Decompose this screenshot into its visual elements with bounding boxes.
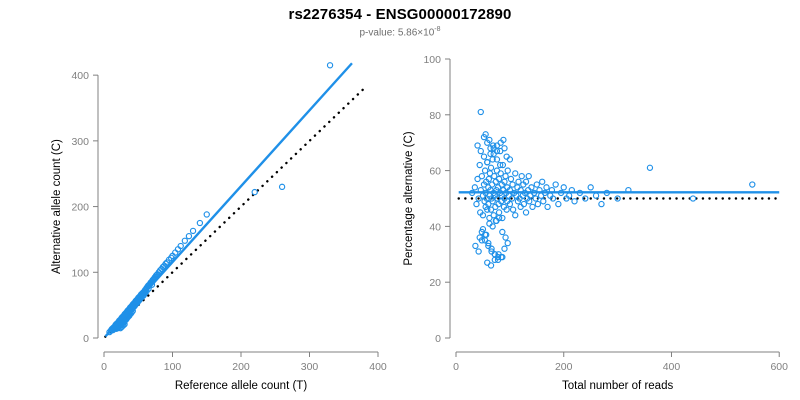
- data-point: [197, 220, 202, 225]
- y-tick-label-left: 300: [71, 136, 89, 148]
- data-point: [535, 201, 540, 206]
- data-point: [508, 176, 513, 181]
- data-point: [498, 171, 503, 176]
- y-tick-label-left: 200: [71, 202, 89, 214]
- y-tick-label-right: 100: [423, 54, 441, 66]
- data-point: [327, 63, 332, 68]
- data-point: [473, 243, 478, 248]
- y-tick-label-left: 0: [83, 333, 89, 345]
- data-point: [477, 162, 482, 167]
- data-point: [510, 182, 515, 187]
- data-point: [690, 196, 695, 201]
- data-point: [472, 185, 477, 190]
- y-tick-label-right: 0: [435, 333, 441, 345]
- data-point: [503, 174, 508, 179]
- y-axis-title-left: Alternative allele count (C): [51, 139, 63, 274]
- x-tick-label-left: 100: [164, 361, 182, 373]
- data-point: [474, 201, 479, 206]
- data-point: [182, 238, 187, 243]
- x-axis-title-right: Total number of reads: [562, 380, 673, 392]
- data-point: [502, 246, 507, 251]
- subtitle-prefix: p-value: 5.86×10: [359, 27, 434, 38]
- data-point: [500, 229, 505, 234]
- y-tick-label-right: 60: [429, 166, 441, 178]
- data-point: [491, 213, 496, 218]
- data-point: [280, 184, 285, 189]
- data-point: [505, 241, 510, 246]
- x-tick-label-left: 200: [232, 361, 250, 373]
- data-point: [526, 174, 531, 179]
- data-point: [750, 182, 755, 187]
- data-point: [478, 109, 483, 114]
- x-tick-label-left: 400: [369, 361, 387, 373]
- y-tick-label-left: 400: [71, 70, 89, 82]
- y-tick-label-right: 40: [429, 221, 441, 233]
- data-point: [492, 174, 497, 179]
- data-point: [541, 199, 546, 204]
- figure-title: rs2276354 - ENSG00000172890: [0, 6, 800, 23]
- data-point: [519, 174, 524, 179]
- data-point: [545, 204, 550, 209]
- data-point: [478, 148, 483, 153]
- data-point: [503, 235, 508, 240]
- data-point: [510, 207, 515, 212]
- x-tick-label-right: 200: [555, 361, 573, 373]
- x-tick-label-right: 600: [770, 361, 788, 373]
- data-point: [186, 234, 191, 239]
- figure-root: rs2276354 - ENSG00000172890 p-value: 5.8…: [0, 0, 800, 400]
- data-point: [476, 249, 481, 254]
- data-point: [647, 165, 652, 170]
- data-point: [190, 228, 195, 233]
- y-tick-label-right: 20: [429, 277, 441, 289]
- y-tick-label-left: 100: [71, 267, 89, 279]
- y-axis-title-right: Percentage alternative (C): [403, 131, 415, 265]
- fit-line-left: [105, 63, 352, 336]
- x-axis-title-left: Reference allele count (T): [175, 380, 307, 392]
- figure-subtitle: p-value: 5.86×10-8: [0, 26, 800, 38]
- data-point: [523, 210, 528, 215]
- subtitle-exponent: -8: [434, 26, 440, 33]
- data-point: [505, 168, 510, 173]
- panel-left: 01002003004000100200300400Reference alle…: [51, 63, 387, 392]
- data-point: [556, 201, 561, 206]
- y-tick-label-right: 80: [429, 110, 441, 122]
- data-point: [593, 193, 598, 198]
- x-tick-label-right: 0: [453, 361, 459, 373]
- data-point: [530, 204, 535, 209]
- data-points-right: [470, 109, 755, 268]
- data-points-left: [107, 63, 333, 335]
- data-point: [482, 168, 487, 173]
- data-point: [488, 151, 493, 156]
- data-point: [481, 154, 486, 159]
- data-point: [497, 210, 502, 215]
- plot-canvas: 01002003004000100200300400Reference alle…: [0, 0, 800, 400]
- data-point: [513, 213, 518, 218]
- data-point: [204, 212, 209, 217]
- data-point: [475, 143, 480, 148]
- data-point: [572, 199, 577, 204]
- x-tick-label-right: 400: [663, 361, 681, 373]
- x-tick-label-left: 0: [101, 361, 107, 373]
- data-point: [540, 179, 545, 184]
- data-point: [534, 182, 539, 187]
- data-point: [588, 185, 593, 190]
- data-point: [485, 160, 490, 165]
- data-point: [479, 174, 484, 179]
- data-point: [488, 165, 493, 170]
- data-point: [544, 185, 549, 190]
- data-point: [502, 146, 507, 151]
- data-point: [561, 185, 566, 190]
- data-point: [516, 179, 521, 184]
- panel-right: 0204060801000200400600Total number of re…: [403, 54, 788, 392]
- data-point: [513, 171, 518, 176]
- data-point: [252, 190, 257, 195]
- data-point: [553, 182, 558, 187]
- x-tick-label-left: 300: [301, 361, 319, 373]
- reference-line-left: [105, 90, 363, 337]
- data-point: [599, 201, 604, 206]
- data-point: [488, 263, 493, 268]
